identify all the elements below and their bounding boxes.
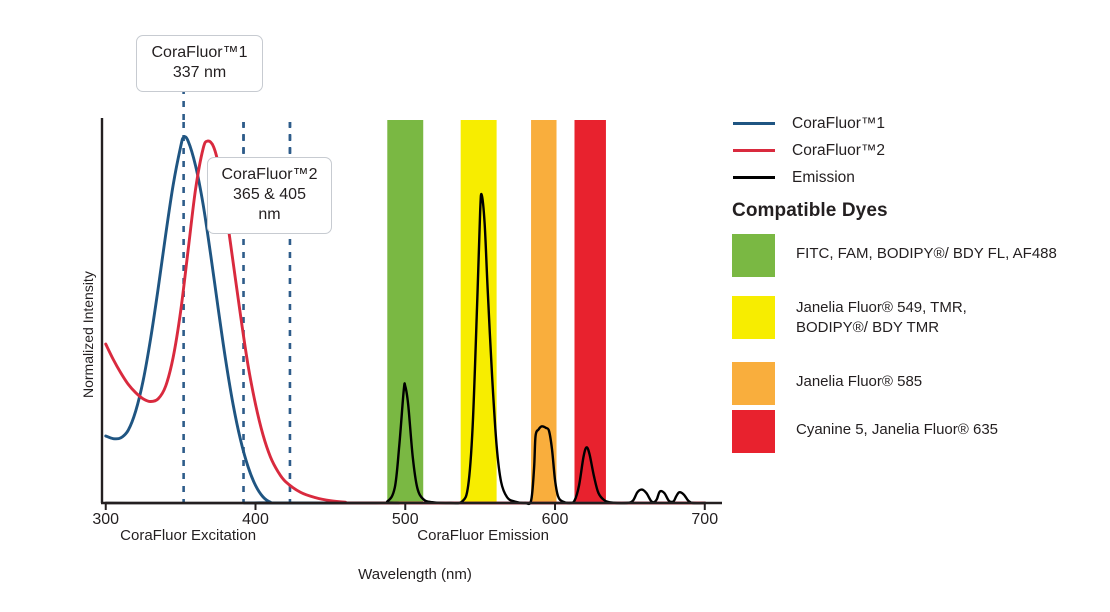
segment-label-2: CoraFluor Emission (373, 527, 593, 544)
dye-label-4: Cyanine 5, Janelia Fluor® 635 (796, 410, 998, 440)
spectra-plot (0, 0, 740, 560)
yellow-band (461, 120, 497, 503)
dye-color-swatch-3 (732, 362, 775, 405)
segment-label-1: CoraFluor Excitation (78, 527, 298, 544)
legend-row-2: CoraFluor™2 (733, 137, 885, 164)
compatible-dyes-title: Compatible Dyes (732, 200, 888, 222)
dye-label-3: Janelia Fluor® 585 (796, 362, 922, 392)
dye-row-4: Cyanine 5, Janelia Fluor® 635 (732, 410, 998, 453)
legend-line-swatch-2 (733, 149, 775, 152)
x-axis-title: Wavelength (nm) (300, 566, 530, 583)
dye-row-3: Janelia Fluor® 585 (732, 362, 922, 405)
callout-corafluor1-line1: CoraFluor™1 (149, 43, 250, 63)
legend-line-swatch-3 (733, 176, 775, 179)
legend-line-swatch-1 (733, 122, 775, 125)
dye-row-2: Janelia Fluor® 549, TMR, BODIPY®/ BDY TM… (732, 296, 967, 339)
callout-corafluor1-line2: 337 nm (149, 63, 250, 83)
dye-row-1: FITC, FAM, BODIPY®/ BDY FL, AF488 (732, 234, 1057, 277)
series-legend: CoraFluor™1CoraFluor™2Emission (733, 110, 885, 191)
callout-corafluor2: CoraFluor™2 365 & 405 nm (207, 157, 332, 234)
dye-color-swatch-4 (732, 410, 775, 453)
callout-corafluor1: CoraFluor™1 337 nm (136, 35, 263, 92)
legend-label-1: CoraFluor™1 (792, 115, 885, 133)
legend-label-3: Emission (792, 169, 855, 187)
legend-label-2: CoraFluor™2 (792, 142, 885, 160)
y-axis-title: Normalized Intensity (80, 271, 96, 398)
legend-row-1: CoraFluor™1 (733, 110, 885, 137)
callout-corafluor2-line2: 365 & 405 nm (220, 185, 319, 225)
dye-color-swatch-2 (732, 296, 775, 339)
red-band (574, 120, 605, 503)
dye-label-2: Janelia Fluor® 549, TMR, BODIPY®/ BDY TM… (796, 296, 967, 338)
dye-color-swatch-1 (732, 234, 775, 277)
legend-row-3: Emission (733, 164, 885, 191)
green-band (387, 120, 423, 503)
x-tick-label-700: 700 (675, 511, 735, 529)
callout-corafluor2-line1: CoraFluor™2 (220, 165, 319, 185)
figure-root: Normalized Intensity 300400500600700 Cor… (0, 0, 1110, 612)
dye-label-1: FITC, FAM, BODIPY®/ BDY FL, AF488 (796, 234, 1057, 264)
